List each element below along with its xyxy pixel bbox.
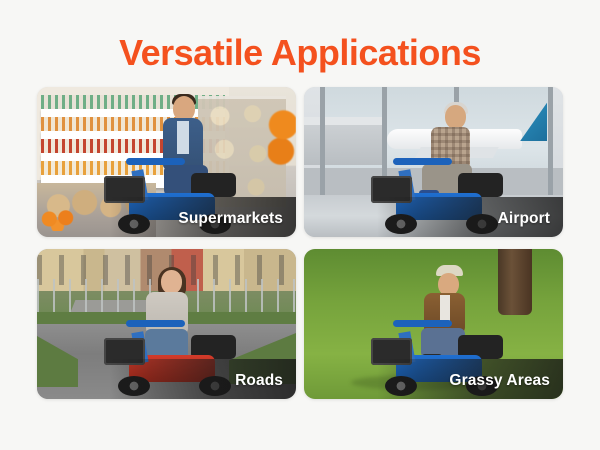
orange-crate xyxy=(37,207,78,231)
scooter-wheel xyxy=(385,376,417,396)
scooter-basket xyxy=(371,338,411,365)
scooter-handlebar xyxy=(126,158,185,165)
terminal-building xyxy=(304,117,382,165)
rider-head xyxy=(161,270,182,294)
card-label-airport: Airport xyxy=(498,210,550,228)
scooter-wheel xyxy=(199,376,231,396)
scooter-wheel xyxy=(118,214,150,234)
application-card-grassy-areas[interactable]: Grassy Areas xyxy=(304,249,563,399)
scooter-wheel xyxy=(118,376,150,396)
card-label-grassy-areas: Grassy Areas xyxy=(449,372,550,390)
application-card-supermarkets[interactable]: Supermarkets xyxy=(37,87,296,237)
application-card-grid: Supermarkets xyxy=(37,87,563,399)
mobility-scooter xyxy=(371,156,506,234)
application-card-airport[interactable]: Airport xyxy=(304,87,563,237)
rider-shirt xyxy=(440,295,450,321)
rider-shirt xyxy=(177,121,189,154)
scooter-handlebar xyxy=(393,320,452,327)
card-label-supermarkets: Supermarkets xyxy=(178,210,283,228)
scooter-basket xyxy=(104,338,144,365)
pumpkin-display xyxy=(268,108,296,168)
versatile-applications-panel: Versatile Applications xyxy=(0,0,600,450)
scooter-wheel xyxy=(466,214,498,234)
scooter-handlebar xyxy=(126,320,185,327)
window-mullion xyxy=(548,87,553,195)
scooter-basket xyxy=(371,176,411,203)
application-card-roads[interactable]: Roads xyxy=(37,249,296,399)
rider-head xyxy=(445,105,466,129)
window-mullion xyxy=(320,87,325,195)
scooter-wheel xyxy=(385,214,417,234)
card-label-roads: Roads xyxy=(235,372,283,390)
tree-trunk xyxy=(498,249,532,315)
scooter-handlebar xyxy=(393,158,452,165)
mobility-scooter xyxy=(104,318,239,396)
page-title: Versatile Applications xyxy=(0,32,600,74)
scooter-basket xyxy=(104,176,144,203)
